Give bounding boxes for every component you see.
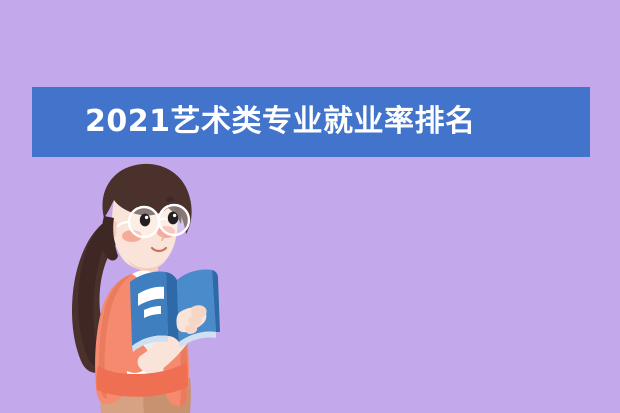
illustration-girl-reading — [40, 160, 240, 413]
girl-reading-book-icon — [40, 160, 240, 413]
poster-canvas: 2021艺术类专业就业率排名 — [0, 0, 620, 413]
title-banner: 2021艺术类专业就业率排名 — [32, 87, 590, 157]
page-title: 2021艺术类专业就业率排名 — [85, 107, 476, 137]
